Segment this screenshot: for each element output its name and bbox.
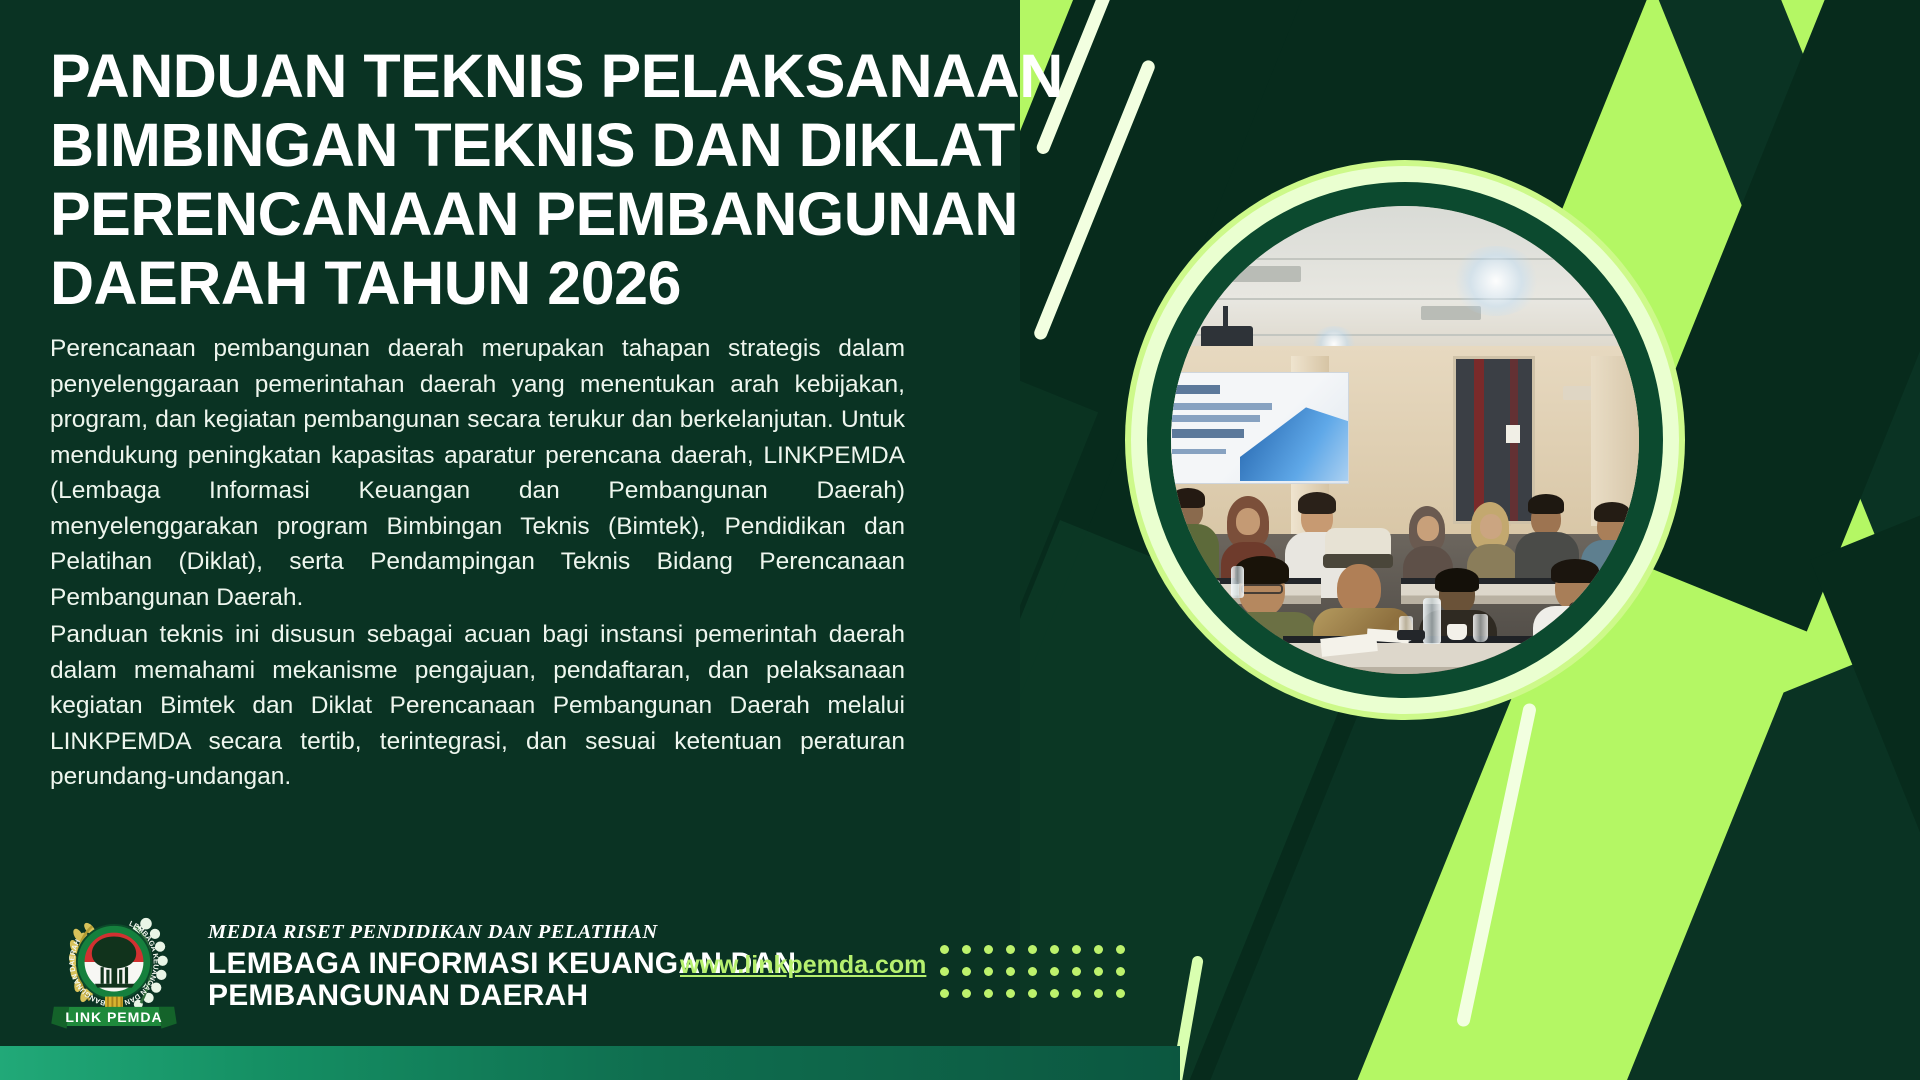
dot — [1006, 945, 1015, 954]
dot — [1094, 945, 1103, 954]
paragraph-2: Panduan teknis ini disusun sebagai acuan… — [50, 617, 905, 795]
dot — [940, 945, 949, 954]
footer: LEMBAGA KEUANGAN DAN PEMBANGUNAN DAERAH … — [50, 907, 1110, 1032]
dot — [940, 989, 949, 998]
dot — [1050, 945, 1059, 954]
dot — [1006, 967, 1015, 976]
drinking-glass — [1473, 614, 1488, 642]
hero-photo — [1125, 160, 1685, 720]
dot — [984, 989, 993, 998]
brand-tagline: MEDIA RISET PENDIDIKAN DAN PELATIHAN — [208, 921, 796, 944]
page-title: PANDUAN TEKNIS PELAKSANAAN BIMBINGAN TEK… — [50, 42, 1080, 318]
dot — [940, 967, 949, 976]
dot — [1072, 989, 1081, 998]
dot — [1094, 967, 1103, 976]
dot — [1050, 989, 1059, 998]
photo-front-table-right — [1537, 648, 1639, 674]
water-bottle — [1423, 598, 1441, 644]
bottom-gradient-strip-left — [0, 1046, 1180, 1080]
dot — [1028, 967, 1037, 976]
dot — [1072, 945, 1081, 954]
paragraph-1: Perencanaan pembangunan daerah merupakan… — [50, 331, 905, 615]
dot — [1028, 989, 1037, 998]
dot — [1050, 967, 1059, 976]
photo-door — [1453, 356, 1535, 524]
dot-grid-footer — [940, 945, 1130, 1003]
photo-image — [1171, 206, 1639, 674]
poster-body: Perencanaan pembangunan daerah merupakan… — [50, 331, 905, 795]
brand-name-line2: PEMBANGUNAN DAERAH — [208, 980, 796, 1012]
website-link[interactable]: www.linkpemda.com — [680, 951, 926, 980]
photo-event-banner — [1171, 372, 1349, 484]
dot — [1116, 989, 1125, 998]
dot — [1072, 967, 1081, 976]
linkpemda-emblem: LEMBAGA KEUANGAN DAN PEMBANGUNAN DAERAH … — [50, 907, 178, 1035]
dot — [1116, 967, 1125, 976]
dot — [1006, 989, 1015, 998]
dot — [984, 945, 993, 954]
dot — [1028, 945, 1037, 954]
chevron-band-dark-4 — [1810, 463, 1920, 1080]
dot — [984, 967, 993, 976]
dot — [1116, 945, 1125, 954]
emblem-ribbon-text: LINK PEMDA — [65, 1009, 162, 1025]
dot — [962, 989, 971, 998]
ceiling-light — [1451, 246, 1541, 316]
dot — [962, 945, 971, 954]
dot — [962, 967, 971, 976]
dot — [1094, 989, 1103, 998]
